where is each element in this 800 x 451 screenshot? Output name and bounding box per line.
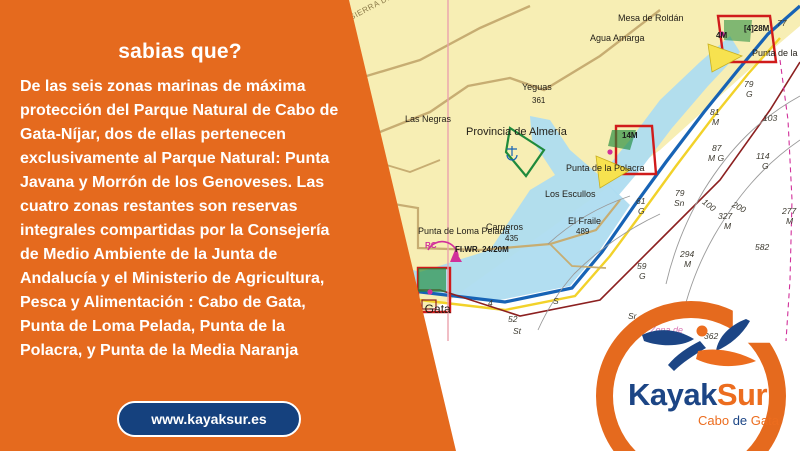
logo-tagline: Cabo de Gata	[698, 413, 779, 428]
logo-tagline-de: de	[733, 413, 747, 428]
website-cta-button[interactable]: www.kayaksur.es	[117, 401, 301, 437]
logo-word-kayak: Kayak	[628, 377, 717, 412]
logo-tagline-gata: Gata	[751, 413, 779, 428]
page-title: sabias que?	[20, 40, 340, 64]
logo-tagline-cabo: Cabo	[698, 413, 729, 428]
logo-word-sur: Sur	[717, 377, 767, 412]
kayak-paddler-icon	[638, 317, 758, 375]
body-text-block: De las seis zonas marinas de máxima prot…	[20, 75, 350, 363]
body-paragraph: De las seis zonas marinas de máxima prot…	[20, 75, 350, 363]
poster-canvas: SIERRA DE Provincia de Almería Mesa de R…	[0, 0, 800, 451]
kayaksur-logo[interactable]: KayakSur Cabo de Gata	[580, 291, 800, 451]
logo-wordmark: KayakSur	[628, 377, 767, 413]
